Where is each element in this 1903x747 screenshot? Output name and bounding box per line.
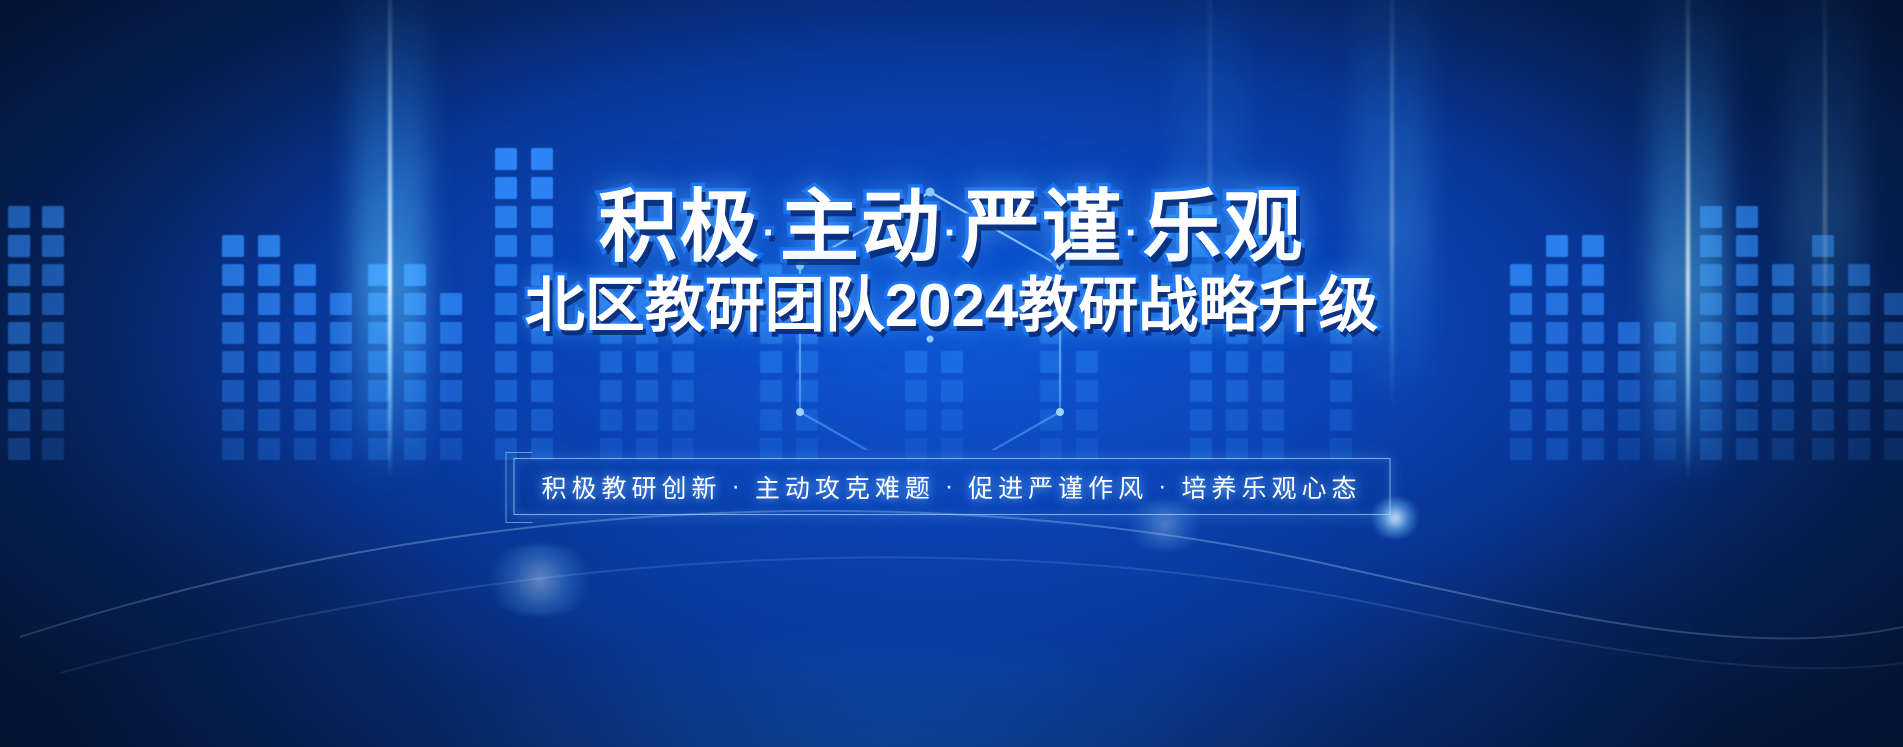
city-window [905, 351, 927, 373]
city-window [368, 409, 390, 431]
city-window [1654, 380, 1676, 402]
city-window [1848, 409, 1870, 431]
city-window [8, 351, 30, 373]
slogan-item-1: 积极教研创新 [541, 469, 721, 505]
banner-subtitle: 北区教研团队2024教研战略升级 [0, 272, 1903, 340]
city-window [1772, 380, 1794, 402]
main-title-word-3: 严谨 [961, 182, 1123, 271]
city-window [404, 438, 426, 460]
city-window [1262, 380, 1284, 402]
city-window [330, 351, 352, 373]
city-window [1330, 438, 1352, 460]
city-window [1848, 351, 1870, 373]
glow-dot-center [480, 545, 600, 615]
city-window [1510, 438, 1532, 460]
city-window [1076, 380, 1098, 402]
city-window [1582, 409, 1604, 431]
city-window [1772, 409, 1794, 431]
city-window [531, 380, 553, 402]
city-window [796, 351, 818, 373]
city-window [258, 351, 280, 373]
city-window [1772, 351, 1794, 373]
city-window [1884, 409, 1903, 431]
city-window [8, 438, 30, 460]
city-window [1546, 380, 1568, 402]
city-window [1700, 351, 1722, 373]
city-window [636, 380, 658, 402]
city-window [440, 380, 462, 402]
city-window [1546, 409, 1568, 431]
city-window [1226, 351, 1248, 373]
city-window [672, 351, 694, 373]
city-window [600, 438, 622, 460]
city-window [8, 380, 30, 402]
slogan-text: 积极教研创新·主动攻克难题·促进严谨作风·培养乐观心态 [514, 459, 1389, 514]
city-window [1618, 380, 1640, 402]
city-window [1582, 351, 1604, 373]
city-window [1040, 351, 1062, 373]
light-swoosh-decoration [0, 387, 1903, 687]
city-window [294, 409, 316, 431]
city-window [636, 351, 658, 373]
city-window [905, 409, 927, 431]
city-window [222, 409, 244, 431]
main-title-word-1: 积极 [599, 182, 761, 271]
city-window [941, 438, 963, 460]
city-window [760, 409, 782, 431]
city-window [1262, 351, 1284, 373]
city-window [1040, 409, 1062, 431]
city-window [1076, 409, 1098, 431]
city-window [796, 409, 818, 431]
city-window [1262, 409, 1284, 431]
city-window [600, 409, 622, 431]
city-window [404, 380, 426, 402]
city-window [600, 351, 622, 373]
main-title-word-4: 乐观 [1142, 182, 1304, 271]
city-window [258, 380, 280, 402]
city-window [495, 409, 517, 431]
city-window [1330, 351, 1352, 373]
city-window [1582, 380, 1604, 402]
city-window [330, 438, 352, 460]
city-window [1040, 380, 1062, 402]
city-window [8, 438, 30, 460]
city-window [905, 438, 927, 460]
city-window [222, 380, 244, 402]
main-title-word-2: 主动 [780, 182, 942, 271]
city-window [1226, 438, 1248, 460]
city-window [1510, 351, 1532, 373]
city-window [1226, 380, 1248, 402]
city-window [1700, 380, 1722, 402]
city-window [8, 409, 30, 431]
city-window [1736, 438, 1758, 460]
city-window [941, 380, 963, 402]
city-window [1076, 351, 1098, 373]
city-window [531, 148, 553, 170]
city-window [8, 351, 30, 373]
city-window [1190, 409, 1212, 431]
city-window [672, 438, 694, 460]
vignette-overlay [0, 0, 1903, 747]
city-window [941, 409, 963, 431]
city-window [1330, 380, 1352, 402]
city-window [42, 351, 64, 373]
main-title-separator-1: · [763, 211, 778, 255]
banner-main-title: 积极·主动·严谨·乐观 [0, 184, 1903, 276]
city-window [1812, 438, 1834, 460]
city-window [368, 380, 390, 402]
city-window [368, 351, 390, 373]
city-window [1190, 380, 1212, 402]
city-window [222, 351, 244, 373]
slogan-item-2: 主动攻克难题 [755, 469, 935, 505]
slogan-frame: 积极教研创新·主动攻克难题·促进严谨作风·培养乐观心态 [513, 458, 1390, 515]
city-window [258, 438, 280, 460]
city-window [672, 409, 694, 431]
city-window [1330, 409, 1352, 431]
city-window [1618, 351, 1640, 373]
city-window [1736, 409, 1758, 431]
city-window [440, 438, 462, 460]
city-window [941, 351, 963, 373]
city-window [1510, 409, 1532, 431]
city-window [404, 351, 426, 373]
city-window [258, 409, 280, 431]
city-window [368, 438, 390, 460]
city-window [1262, 438, 1284, 460]
city-window [1812, 351, 1834, 373]
city-window [1618, 438, 1640, 460]
city-window [1040, 438, 1062, 460]
city-window [440, 351, 462, 373]
perspective-floor [0, 367, 1903, 747]
city-window [796, 438, 818, 460]
city-window [294, 438, 316, 460]
city-window [1884, 438, 1903, 460]
city-window [1812, 380, 1834, 402]
city-window [796, 380, 818, 402]
city-window [1654, 409, 1676, 431]
city-window [294, 380, 316, 402]
city-window [1076, 438, 1098, 460]
city-window [1736, 351, 1758, 373]
city-window [1226, 409, 1248, 431]
city-window [600, 380, 622, 402]
city-window [294, 351, 316, 373]
city-window [531, 438, 553, 460]
slogan-separator-1: · [731, 472, 744, 501]
city-window [1848, 380, 1870, 402]
city-window [42, 438, 64, 460]
slogan-item-4: 培养乐观心态 [1182, 469, 1362, 505]
city-window [531, 351, 553, 373]
city-window [8, 380, 30, 402]
city-window [495, 380, 517, 402]
city-window [760, 351, 782, 373]
city-window [1510, 380, 1532, 402]
city-window [1546, 438, 1568, 460]
city-window [1700, 438, 1722, 460]
city-window [1736, 380, 1758, 402]
city-window [905, 380, 927, 402]
city-window [1700, 409, 1722, 431]
city-window [760, 438, 782, 460]
city-window [1772, 438, 1794, 460]
city-window [440, 409, 462, 431]
city-window [1848, 438, 1870, 460]
main-title-separator-2: · [944, 211, 959, 255]
city-window [42, 380, 64, 402]
city-window [42, 409, 64, 431]
city-window [1654, 438, 1676, 460]
banner-stage: 积极·主动·严谨·乐观 北区教研团队2024教研战略升级 积极教研创新·主动攻克… [0, 0, 1903, 747]
main-title-separator-3: · [1125, 211, 1140, 255]
city-window [760, 380, 782, 402]
city-window [531, 409, 553, 431]
city-window [1546, 351, 1568, 373]
city-window [672, 380, 694, 402]
city-window [330, 409, 352, 431]
city-window [1654, 351, 1676, 373]
city-window [330, 380, 352, 402]
city-window [1190, 351, 1212, 373]
city-window [1812, 409, 1834, 431]
city-window [495, 148, 517, 170]
city-window [636, 409, 658, 431]
slogan-separator-3: · [1158, 472, 1171, 501]
city-window [1190, 438, 1212, 460]
slogan-item-3: 促进严谨作风 [968, 469, 1148, 505]
city-window [404, 409, 426, 431]
city-window [1884, 351, 1903, 373]
city-window [1884, 380, 1903, 402]
city-window [8, 409, 30, 431]
city-window [636, 438, 658, 460]
slogan-separator-2: · [945, 472, 958, 501]
city-window [1618, 409, 1640, 431]
city-window [222, 438, 244, 460]
city-window [1582, 438, 1604, 460]
city-window [495, 351, 517, 373]
